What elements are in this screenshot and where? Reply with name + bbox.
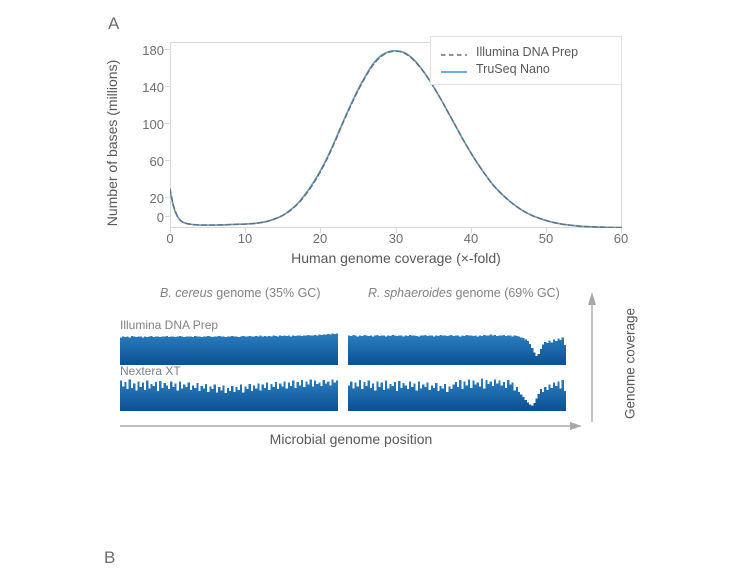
panel-b-label: B [104, 548, 116, 568]
panel-b-y-axis-title: Genome coverage [623, 294, 638, 434]
legend-item-truseq-nano: TruSeq Nano [431, 60, 621, 77]
x-tick-30: 30 [376, 231, 416, 246]
y-tick-0: 0 [134, 210, 164, 225]
panel-b-x-axis-title: Microbial genome position [120, 431, 582, 447]
coverage-track-illumina-dna-prep [120, 332, 580, 365]
coverage-seg-illumina-b-cereus [120, 332, 338, 365]
genome-name-b-cereus: B. cereus [160, 286, 213, 300]
coverage-seg-nextera-r-sphaeroides [348, 378, 566, 411]
coverage-seg-nextera-b-cereus [120, 378, 338, 411]
x-tick-40: 40 [451, 231, 491, 246]
x-tick-60: 60 [601, 231, 641, 246]
legend-item-illumina-dna-prep: Illumina DNA Prep [431, 43, 621, 60]
panel-a-x-axis-title: Human genome coverage (×-fold) [170, 250, 622, 266]
legend-label-truseq-nano: TruSeq Nano [476, 62, 550, 76]
track-label-illumina-dna-prep: Illumina DNA Prep [120, 318, 218, 332]
coverage-track-nextera-xt [120, 378, 580, 411]
x-tick-50: 50 [526, 231, 566, 246]
panel-b-coverage-arrow [586, 292, 598, 422]
track-label-nextera-xt: Nextera XT [120, 364, 181, 378]
y-tick-180: 180 [134, 43, 164, 58]
panel-b-position-arrow [120, 418, 582, 428]
y-tick-60: 60 [134, 154, 164, 169]
y-tick-20: 20 [134, 191, 164, 206]
genome-name-r-sphaeroides: R. sphaeroides [368, 286, 452, 300]
x-tick-0: 0 [150, 231, 190, 246]
panel-a-y-axis-title: Number of bases (millions) [104, 23, 120, 263]
legend-label-illumina-dna-prep: Illumina DNA Prep [476, 45, 578, 59]
panel-a-y-ticks: 180 140 100 60 20 0 [130, 0, 164, 268]
panel-a: A Number of bases (millions) 180 140 100… [0, 0, 736, 268]
x-tick-20: 20 [300, 231, 340, 246]
genome-gc-r-sphaeroides: genome (69% GC) [452, 286, 560, 300]
y-tick-100: 100 [134, 117, 164, 132]
legend-swatch-dashed-icon [441, 47, 467, 57]
legend-swatch-solid-icon [441, 64, 467, 74]
genome-title-r-sphaeroides: R. sphaeroides genome (69% GC) [368, 286, 560, 300]
genome-gc-b-cereus: genome (35% GC) [213, 286, 321, 300]
figure-container: A Number of bases (millions) 180 140 100… [0, 0, 736, 475]
y-tick-140: 140 [134, 80, 164, 95]
panel-a-legend: Illumina DNA Prep TruSeq Nano [430, 36, 622, 85]
panel-b: B B. cereus genome (35% GC) R. sphaeroid… [0, 268, 736, 475]
coverage-seg-illumina-r-sphaeroides [348, 332, 566, 365]
genome-title-b-cereus: B. cereus genome (35% GC) [160, 286, 321, 300]
x-tick-10: 10 [225, 231, 265, 246]
